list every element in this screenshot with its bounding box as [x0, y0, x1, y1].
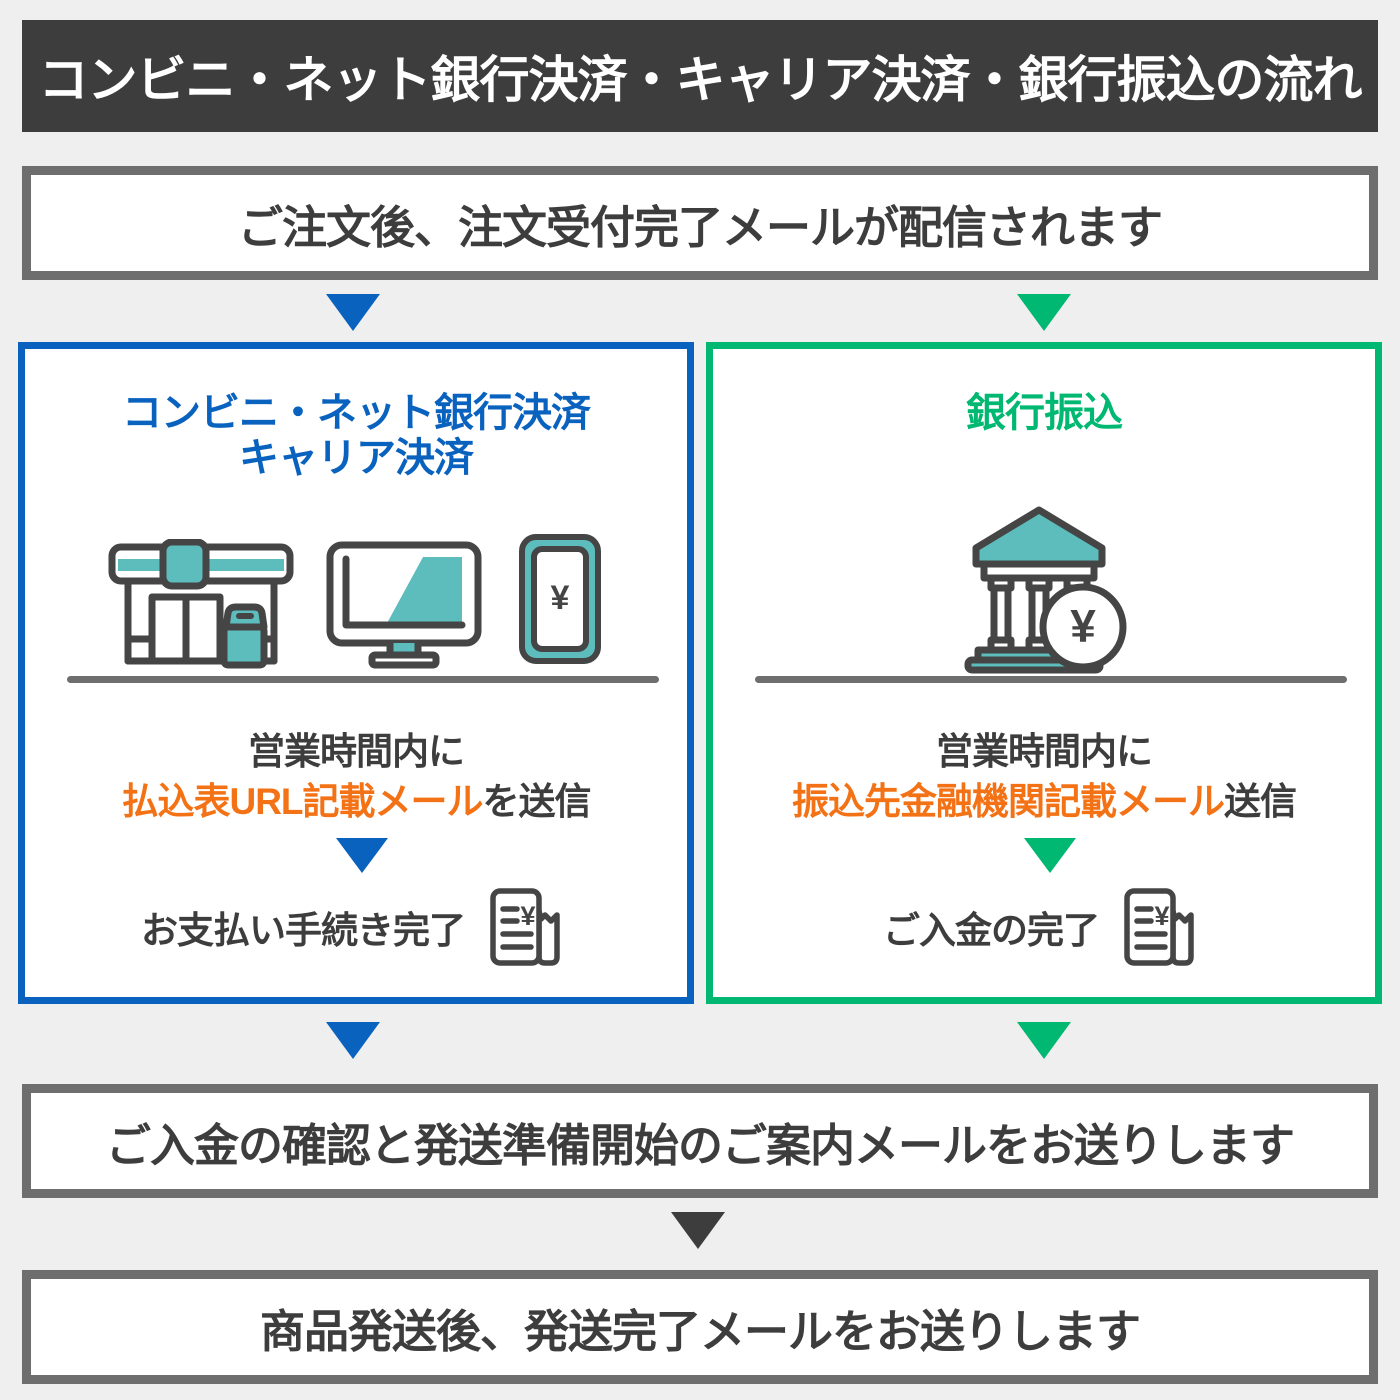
card-heading-line2: キャリア決済 [25, 436, 687, 481]
conveni-icon-row: ¥ [25, 529, 687, 669]
down-arrow-to-conveni-icon [326, 294, 380, 331]
down-arrow-conveni-out-icon [326, 1022, 380, 1059]
card-heading-bank: 銀行振込 [713, 391, 1375, 436]
smartphone-yen-icon: ¥ [512, 529, 607, 669]
invoice-receipt-icon: ¥ [479, 881, 571, 973]
bank-building-yen-icon: ¥ [954, 502, 1134, 674]
down-arrow-to-shipped-icon [671, 1212, 725, 1249]
down-arrow-bank-out-icon [1017, 1022, 1071, 1059]
page-title-banner: コンビニ・ネット銀行決済・キャリア決済・銀行振込の流れ [22, 20, 1378, 132]
step-payment-confirm-banner: ご入金の確認と発送準備開始のご案内メールをお送りします [22, 1084, 1378, 1198]
page-title: コンビニ・ネット銀行決済・キャリア決済・銀行振込の流れ [39, 40, 1362, 112]
conveni-note-suffix: を送信 [483, 781, 591, 822]
conveni-note-line1: 営業時間内に [25, 721, 687, 775]
conveni-final-row: お支払い手続き完了 ¥ [25, 881, 687, 973]
bank-note-highlight: 振込先金融機関記載メール [792, 781, 1224, 822]
step-payment-confirm-text: ご入金の確認と発送準備開始のご案内メールをお送りします [106, 1109, 1294, 1174]
bank-note-suffix: 送信 [1224, 781, 1296, 822]
conveni-note-line2: 払込表URL記載メールを送信 [25, 771, 687, 825]
bank-note-line2: 振込先金融機関記載メール送信 [713, 771, 1375, 825]
card-heading-line1: 銀行振込 [713, 391, 1375, 436]
step-shipped-text: 商品発送後、発送完了メールをお送りします [260, 1295, 1140, 1360]
step-order-email-banner: ご注文後、注文受付完了メールが配信されます [22, 166, 1378, 280]
invoice-receipt-icon: ¥ [1113, 881, 1205, 973]
desktop-monitor-icon [324, 539, 484, 669]
svg-text:¥: ¥ [1070, 600, 1096, 652]
card-heading-line1: コンビニ・ネット銀行決済 [25, 391, 687, 436]
payment-method-card-bank[interactable]: 銀行振込 [706, 342, 1382, 1004]
bank-icon-row: ¥ [713, 499, 1375, 674]
bank-final-row: ご入金の完了 ¥ [713, 881, 1375, 973]
down-arrow-bank-inner-icon [1024, 838, 1076, 873]
bank-final-text: ご入金の完了 [883, 900, 1099, 954]
card-heading-conveni: コンビニ・ネット銀行決済 キャリア決済 [25, 391, 687, 481]
step-order-email-text: ご注文後、注文受付完了メールが配信されます [238, 191, 1162, 256]
step-shipped-banner: 商品発送後、発送完了メールをお送りします [22, 1270, 1378, 1384]
bank-note-line1: 営業時間内に [713, 721, 1375, 775]
svg-text:¥: ¥ [550, 579, 569, 617]
conveni-final-text: お支払い手続き完了 [141, 900, 465, 954]
card-divider-conveni [67, 676, 659, 683]
card-divider-bank [755, 676, 1347, 683]
storefront-icon [106, 539, 296, 669]
conveni-note-highlight: 払込表URL記載メール [121, 781, 482, 822]
svg-text:¥: ¥ [520, 901, 535, 931]
down-arrow-to-bank-icon [1017, 294, 1071, 331]
svg-text:¥: ¥ [1154, 901, 1169, 931]
payment-method-card-conveni[interactable]: コンビニ・ネット銀行決済 キャリア決済 [18, 342, 694, 1004]
down-arrow-conveni-inner-icon [336, 838, 388, 873]
